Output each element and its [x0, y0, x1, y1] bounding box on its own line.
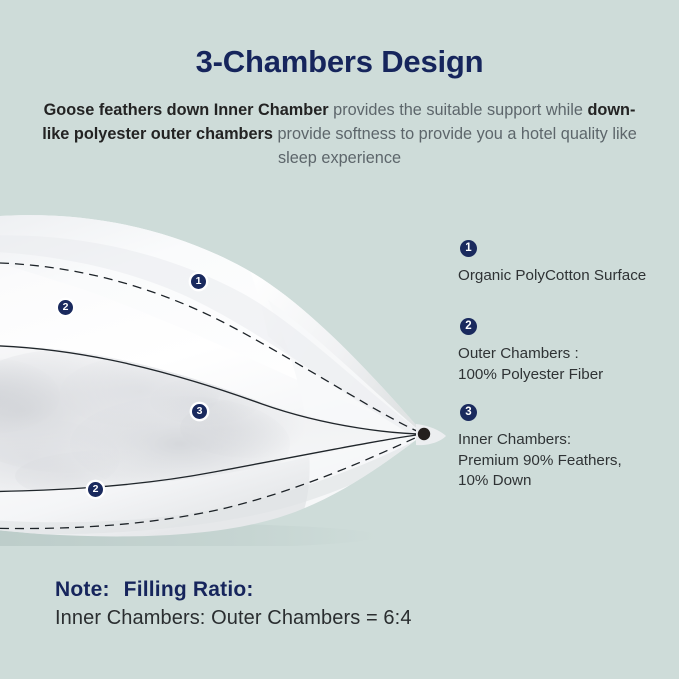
legend-item-2: 2 Outer Chambers : 100% Polyester Fiber	[458, 318, 603, 385]
legend-badge-2: 2	[460, 318, 477, 335]
convergence-point-dot	[418, 428, 430, 440]
legend-badge-3: 3	[460, 404, 477, 421]
subtitle-paragraph: Goose feathers down Inner Chamber provid…	[34, 98, 645, 170]
note-block: Note:Filling Ratio: Inner Chambers: Oute…	[55, 578, 412, 630]
note-heading: Filling Ratio:	[124, 578, 254, 601]
legend-label-2: Outer Chambers : 100% Polyester Fiber	[458, 344, 603, 385]
page-title: 3-Chambers Design	[0, 44, 679, 80]
note-label: Note:	[55, 578, 110, 601]
note-heading-line: Note:Filling Ratio:	[55, 578, 412, 602]
legend-badge-1: 1	[460, 240, 477, 257]
note-ratio-text: Inner Chambers: Outer Chambers = 6:4	[55, 607, 412, 630]
pillow-cutaway-diagram: 1 2 3 2	[0, 196, 460, 546]
pillow-marker-3: 3	[192, 404, 207, 419]
infographic-canvas: 3-Chambers Design Goose feathers down In…	[0, 0, 679, 679]
subtitle-segment-regular-2: provide softness to provide you a hotel …	[273, 125, 637, 167]
subtitle-segment-regular-1: provides the suitable support while	[329, 101, 588, 119]
legend-item-1: 1 Organic PolyCotton Surface	[458, 240, 646, 287]
pillow-marker-1: 1	[191, 274, 206, 289]
legend-label-1: Organic PolyCotton Surface	[458, 266, 646, 287]
pillow-illustration-svg	[0, 196, 460, 546]
subtitle-segment-bold-1: Goose feathers down Inner Chamber	[44, 101, 329, 119]
pillow-marker-2-upper: 2	[58, 300, 73, 315]
legend-item-3: 3 Inner Chambers: Premium 90% Feathers, …	[458, 404, 622, 492]
legend-label-3: Inner Chambers: Premium 90% Feathers, 10…	[458, 430, 622, 492]
pillow-marker-2-lower: 2	[88, 482, 103, 497]
